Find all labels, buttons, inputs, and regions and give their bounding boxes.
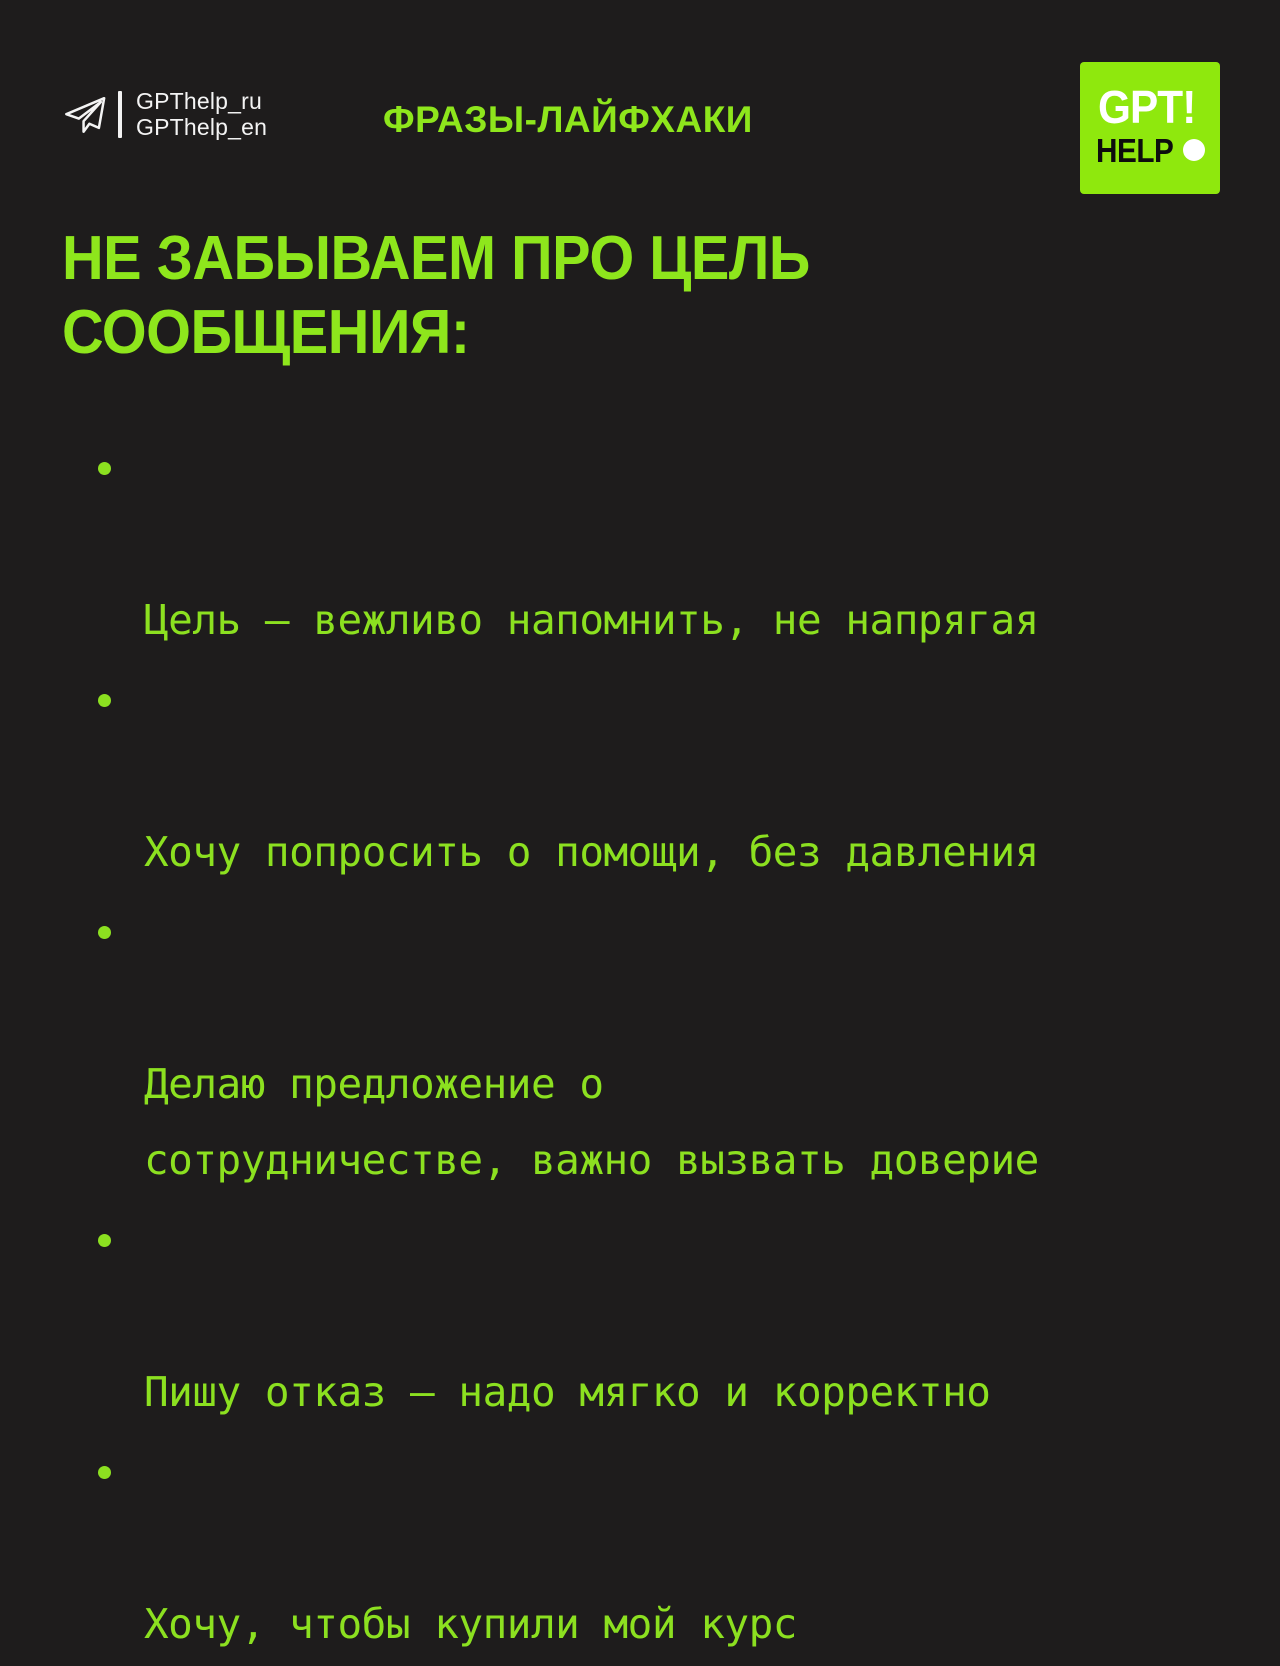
brand-handles: GPThelp_ru GPThelp_en: [136, 88, 267, 140]
logo-gpt-text: GPT!: [1098, 84, 1195, 130]
list-item: Хочу, чтобы купили мой курс: [82, 1434, 1232, 1662]
bullet-dot-icon: [98, 1466, 111, 1479]
list-item-text: Делаю предложение о сотрудничестве, важн…: [144, 1060, 1039, 1184]
list-item-text: Цель — вежливо напомнить, не напрягая: [144, 596, 1039, 644]
telegram-handle-en[interactable]: GPThelp_en: [136, 114, 267, 140]
bullet-dot-icon: [98, 926, 111, 939]
list-item-text: Хочу попросить о помощи, без давления: [144, 828, 1039, 876]
telegram-handle-ru[interactable]: GPThelp_ru: [136, 88, 267, 114]
gpthelp-logo-badge: GPT! HELP: [1080, 62, 1220, 194]
list-item: Делаю предложение о сотрудничестве, важн…: [82, 894, 1232, 1198]
slide-canvas: GPThelp_ru GPThelp_en ФРАЗЫ-ЛАЙФХАКИ GPT…: [0, 0, 1280, 1280]
slide-kicker: ФРАЗЫ-ЛАЙФХАКИ: [383, 99, 753, 141]
bullet-dot-icon: [98, 1234, 111, 1247]
list-item: Хочу попросить о помощи, без давления: [82, 662, 1232, 890]
brand-divider: [118, 91, 122, 138]
logo-dot-icon: [1183, 139, 1205, 161]
page-title: НЕ ЗАБЫВАЕМ ПРО ЦЕЛЬ СООБЩЕНИЯ:: [62, 222, 1001, 370]
brand-block: GPThelp_ru GPThelp_en: [62, 88, 267, 140]
list-item-text: Хочу, чтобы купили мой курс: [144, 1600, 797, 1648]
bullet-dot-icon: [98, 694, 111, 707]
phrase-list: Цель — вежливо напомнить, не напрягая Хо…: [82, 430, 1232, 1666]
list-item: Цель — вежливо напомнить, не напрягая: [82, 430, 1232, 658]
list-item: Пишу отказ — надо мягко и корректно: [82, 1202, 1232, 1430]
list-item-text: Пишу отказ — надо мягко и корректно: [144, 1368, 990, 1416]
telegram-paper-plane-icon: [62, 91, 108, 137]
slide-header: GPThelp_ru GPThelp_en ФРАЗЫ-ЛАЙФХАКИ GPT…: [0, 0, 1280, 210]
bullet-dot-icon: [98, 462, 111, 475]
logo-help-text: HELP: [1096, 134, 1173, 167]
